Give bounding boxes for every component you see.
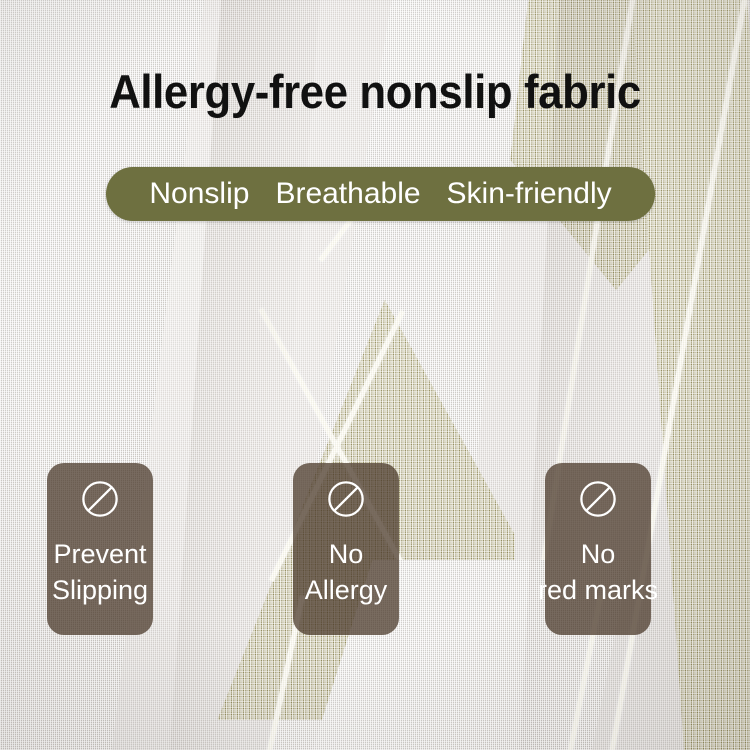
feature-card-label: No red marks xyxy=(499,536,697,608)
page-title: Allergy-free nonslip fabric xyxy=(26,68,724,115)
feature-card-prevent-slipping: Prevent Slipping xyxy=(47,463,153,635)
feature-pill-banner: Nonslip Breathable Skin-friendly xyxy=(106,167,655,221)
prohibition-icon xyxy=(81,480,119,518)
pill-word-skin-friendly: Skin-friendly xyxy=(447,179,612,209)
product-feature-banner: Allergy-free nonslip fabric Nonslip Brea… xyxy=(0,0,750,750)
pill-word-breathable: Breathable xyxy=(275,179,420,209)
prohibition-icon xyxy=(327,480,365,518)
feature-card-no-red-marks: No red marks xyxy=(545,463,651,635)
feature-card-label: Prevent Slipping xyxy=(1,536,199,608)
prohibition-icon xyxy=(579,480,617,518)
feature-card-row: Prevent Slipping No Allergy No red marks xyxy=(0,463,750,635)
feature-card-label: No Allergy xyxy=(247,536,445,608)
feature-card-no-allergy: No Allergy xyxy=(293,463,399,635)
pill-word-nonslip: Nonslip xyxy=(149,179,249,209)
